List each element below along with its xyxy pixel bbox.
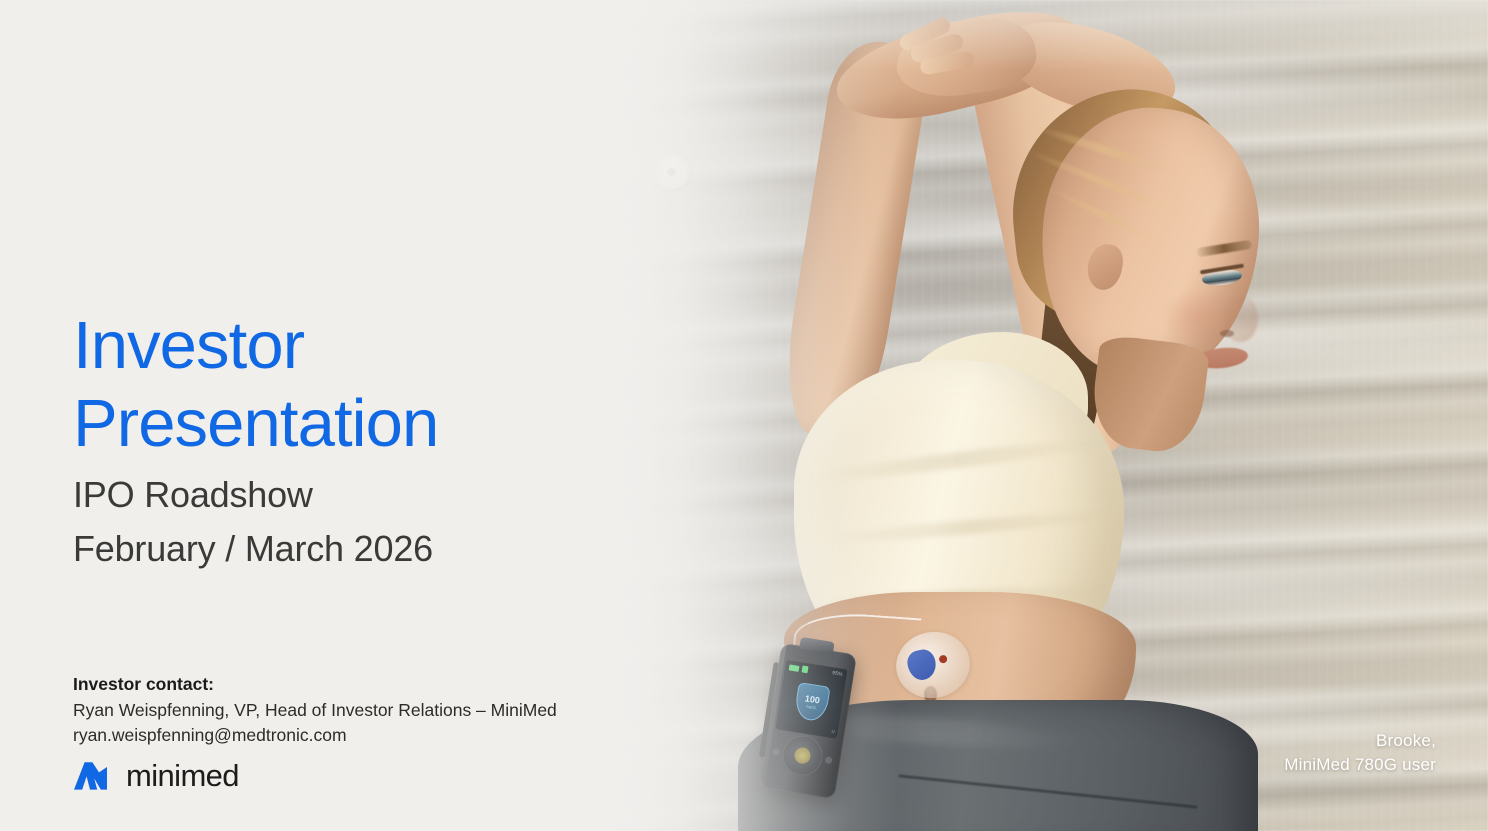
investor-contact-block: Investor contact: Ryan Weispfenning, VP,… xyxy=(73,672,557,748)
page-subtitle: IPO Roadshow February / March 2026 xyxy=(73,468,433,576)
photo-caption-line-2: MiniMed 780G user xyxy=(1284,755,1436,774)
photo-subject: 95% 100 mg/dL U xyxy=(598,0,1488,831)
infusion-connector-icon xyxy=(905,648,938,682)
signal-icon xyxy=(802,665,809,673)
page-title-line-2: Presentation xyxy=(73,385,438,463)
pump-status-bar: 95% xyxy=(789,663,844,679)
investor-contact-label: Investor contact: xyxy=(73,672,557,697)
battery-icon xyxy=(789,664,800,671)
page-subtitle-line-2: February / March 2026 xyxy=(73,522,433,576)
page-title: Investor Presentation xyxy=(73,307,438,464)
shield-icon: 100 mg/dL xyxy=(793,682,830,723)
investor-contact-name: Ryan Weispfenning, VP, Head of Investor … xyxy=(73,698,557,723)
photo-caption: Brooke, MiniMed 780G user xyxy=(1284,729,1436,777)
infusion-indicator-dot xyxy=(939,655,948,664)
pump-right-button xyxy=(825,756,833,764)
photo-caption-line-1: Brooke, xyxy=(1376,731,1436,750)
pump-battery-percent: 95% xyxy=(832,670,843,678)
hero-photo: 95% 100 mg/dL U Brooke, MiniMed 780G use… xyxy=(598,0,1488,831)
investor-contact-email[interactable]: ryan.weispfenning@medtronic.com xyxy=(73,723,557,748)
pump-screen: 95% 100 mg/dL U xyxy=(775,660,847,739)
presentation-title-slide: 95% 100 mg/dL U Brooke, MiniMed 780G use… xyxy=(0,0,1488,831)
left-content-panel: Investor Presentation IPO Roadshow Febru… xyxy=(0,0,700,831)
page-title-line-1: Investor xyxy=(73,307,438,385)
minimed-logo: minimed xyxy=(73,760,239,791)
pump-glucose-unit: mg/dL xyxy=(805,704,817,710)
pump-left-button xyxy=(772,748,780,756)
minimed-wordmark: minimed xyxy=(126,760,239,791)
pump-insulin-on-board: U xyxy=(831,729,835,735)
pump-navigation-pad xyxy=(780,733,826,779)
minimed-m-mark-icon xyxy=(73,761,113,791)
nostril xyxy=(1220,330,1234,337)
page-subtitle-line-1: IPO Roadshow xyxy=(73,468,433,522)
